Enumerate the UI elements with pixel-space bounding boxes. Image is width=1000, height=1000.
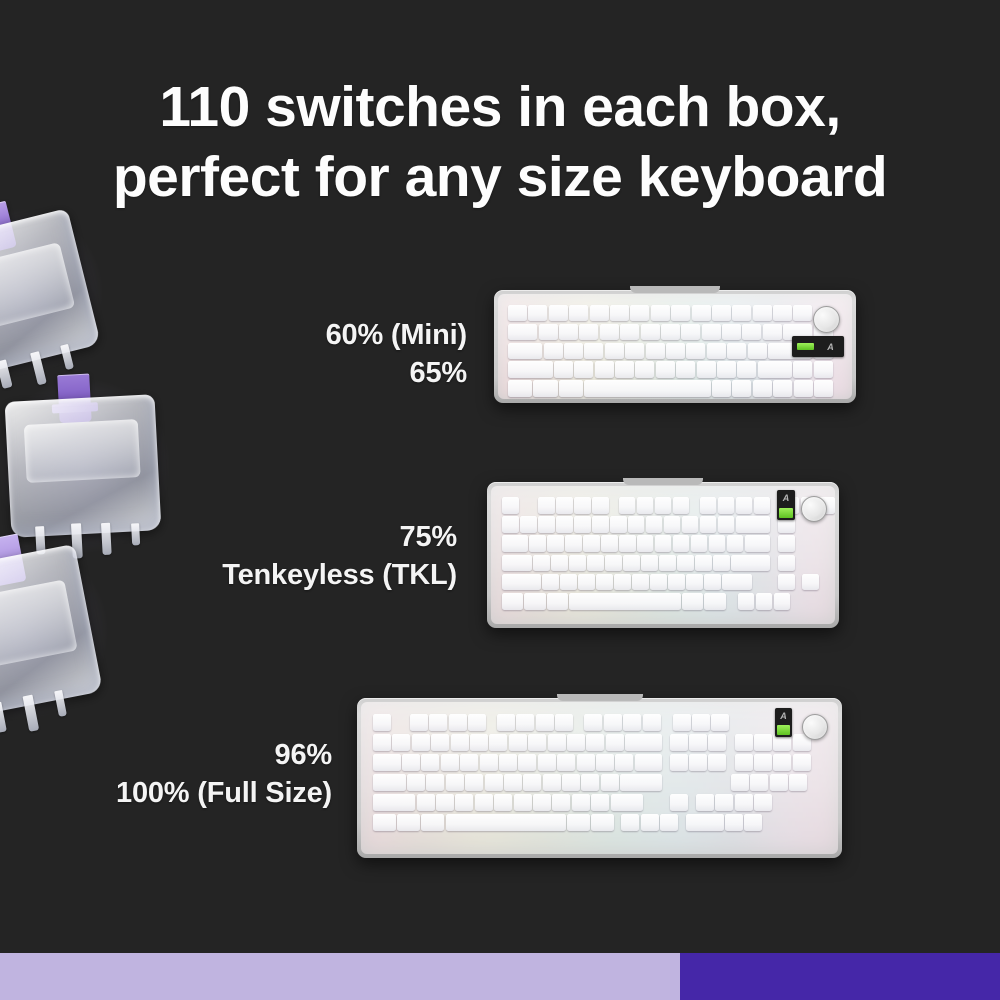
keycap-spacer	[796, 574, 801, 591]
switch-pin	[131, 523, 140, 545]
keycap[interactable]	[604, 714, 622, 731]
keycap-row	[508, 361, 834, 377]
keycap[interactable]	[504, 774, 522, 791]
keycap[interactable]	[584, 714, 602, 731]
keycap[interactable]	[773, 754, 791, 771]
keycap[interactable]	[421, 754, 439, 771]
keycap[interactable]	[475, 794, 493, 811]
label-fullsize-line2: 100% (Full Size)	[116, 774, 332, 812]
keycap[interactable]	[686, 814, 723, 831]
keycap[interactable]	[789, 774, 807, 791]
keycap[interactable]	[750, 774, 768, 791]
label-tkl-line1: 75%	[222, 518, 457, 556]
keycap-spacer	[670, 774, 730, 791]
keycap-spacer	[615, 814, 619, 831]
keycap-row	[373, 714, 731, 731]
keycap[interactable]	[586, 734, 604, 751]
keycap[interactable]	[429, 714, 447, 731]
switch-top	[0, 208, 101, 376]
keycap[interactable]	[742, 324, 761, 340]
keycap[interactable]	[632, 574, 649, 591]
keycap[interactable]	[753, 380, 772, 396]
keycap[interactable]	[579, 324, 598, 340]
keycap[interactable]	[712, 380, 731, 396]
keycap[interactable]	[677, 555, 694, 572]
keycap[interactable]	[707, 343, 726, 359]
keycap[interactable]	[628, 516, 645, 533]
switch-bottom	[0, 544, 103, 718]
keycap[interactable]	[502, 516, 519, 533]
keycap[interactable]	[539, 324, 558, 340]
keycap[interactable]	[446, 814, 566, 831]
keycap[interactable]	[727, 535, 744, 552]
keycap[interactable]	[756, 593, 773, 610]
keycap[interactable]	[373, 774, 406, 791]
keycap-row	[502, 555, 796, 572]
keycap[interactable]	[508, 361, 553, 377]
keycap[interactable]	[460, 754, 478, 771]
keycap[interactable]	[373, 754, 401, 771]
keycap[interactable]	[557, 754, 575, 771]
keycap[interactable]	[465, 774, 483, 791]
keycap[interactable]	[590, 305, 609, 321]
keycap-row	[508, 305, 814, 321]
keycap[interactable]	[508, 380, 532, 396]
keycap[interactable]	[641, 555, 658, 572]
keycap[interactable]	[727, 343, 746, 359]
keycap[interactable]	[778, 535, 795, 552]
keycap[interactable]	[547, 535, 564, 552]
keycap-spacer	[689, 794, 694, 811]
keycap[interactable]	[770, 774, 788, 791]
keycap[interactable]	[407, 774, 425, 791]
keycap[interactable]	[601, 774, 619, 791]
brand-logo-icon: A	[817, 336, 844, 357]
keycap[interactable]	[738, 593, 755, 610]
keycap[interactable]	[623, 714, 641, 731]
keycap[interactable]	[502, 535, 528, 552]
keycap[interactable]	[538, 754, 556, 771]
keycap-spacer	[664, 774, 668, 791]
keycap[interactable]	[686, 343, 705, 359]
keycap[interactable]	[606, 734, 624, 751]
keycap[interactable]	[446, 774, 464, 791]
keycap[interactable]	[518, 754, 536, 771]
keycap[interactable]	[708, 754, 726, 771]
keycap[interactable]	[543, 774, 561, 791]
keycap[interactable]	[731, 555, 770, 572]
keycap[interactable]	[655, 497, 672, 514]
keycap[interactable]	[744, 814, 762, 831]
keycap[interactable]	[696, 794, 714, 811]
keycap[interactable]	[497, 714, 515, 731]
battery-bar-icon	[777, 725, 790, 735]
keycap[interactable]	[591, 794, 609, 811]
keycap[interactable]	[686, 574, 703, 591]
keycap[interactable]	[514, 794, 532, 811]
rotary-knob-icon[interactable]	[801, 496, 827, 522]
keycap[interactable]	[533, 380, 557, 396]
keycap[interactable]	[502, 574, 541, 591]
keycap-row	[508, 380, 834, 396]
keycap[interactable]	[554, 361, 573, 377]
keycap[interactable]	[556, 516, 573, 533]
label-fullsize-line1: 96%	[116, 736, 332, 774]
keycap[interactable]	[650, 574, 667, 591]
keycap[interactable]	[692, 305, 711, 321]
keycap[interactable]	[373, 734, 391, 751]
keycap[interactable]	[748, 343, 767, 359]
keycap[interactable]	[711, 714, 729, 731]
keycap[interactable]	[569, 305, 588, 321]
keycap[interactable]	[528, 305, 547, 321]
bottom-bar-left-segment	[0, 953, 680, 1000]
keycap[interactable]	[745, 535, 771, 552]
keycap[interactable]	[635, 361, 654, 377]
keycap[interactable]	[499, 754, 517, 771]
keycap[interactable]	[431, 734, 449, 751]
keycap[interactable]	[718, 516, 735, 533]
keycap[interactable]	[671, 305, 690, 321]
keycap[interactable]	[524, 593, 545, 610]
keycap[interactable]	[529, 535, 546, 552]
keycap-row	[373, 754, 812, 771]
keycap[interactable]	[508, 343, 542, 359]
keycap[interactable]	[560, 574, 577, 591]
keycap[interactable]	[754, 794, 772, 811]
keycap[interactable]	[567, 814, 590, 831]
keycap[interactable]	[635, 754, 663, 771]
keycap[interactable]	[725, 814, 743, 831]
keycap[interactable]	[689, 734, 707, 751]
keycap[interactable]	[625, 734, 662, 751]
keycap[interactable]	[722, 574, 752, 591]
keycap[interactable]	[643, 714, 661, 731]
keycap[interactable]	[549, 305, 568, 321]
keycap[interactable]	[722, 324, 741, 340]
keycap[interactable]	[596, 754, 614, 771]
keycap[interactable]	[436, 794, 454, 811]
keycap[interactable]	[682, 516, 699, 533]
keycap[interactable]	[712, 305, 731, 321]
keycap[interactable]	[670, 754, 688, 771]
keycap[interactable]	[610, 305, 629, 321]
keycap[interactable]	[646, 343, 665, 359]
keycap[interactable]	[637, 535, 654, 552]
keycap[interactable]	[538, 497, 555, 514]
keycap[interactable]	[754, 754, 772, 771]
rotary-knob-icon[interactable]	[813, 306, 840, 333]
keycap[interactable]	[605, 343, 624, 359]
keycap[interactable]	[574, 361, 593, 377]
keycap[interactable]	[508, 305, 527, 321]
keycap[interactable]	[661, 324, 680, 340]
keycap[interactable]	[676, 361, 695, 377]
keycap[interactable]	[732, 305, 751, 321]
keycap[interactable]	[697, 361, 716, 377]
poster-canvas: 110 switches in each box, perfect for an…	[0, 0, 1000, 1000]
label-compact-line2: 65%	[326, 354, 467, 392]
keycap[interactable]	[814, 380, 833, 396]
keycap[interactable]	[592, 497, 609, 514]
keyboard-top-notch	[630, 286, 720, 293]
keycap[interactable]	[615, 361, 634, 377]
keycap[interactable]	[584, 343, 603, 359]
keycap[interactable]	[523, 774, 541, 791]
keycap[interactable]	[689, 754, 707, 771]
keycap[interactable]	[559, 380, 583, 396]
keycap[interactable]	[572, 794, 590, 811]
brand-logo-icon: A	[777, 490, 795, 507]
keyboard-tenkeyless: A	[487, 482, 839, 628]
keycap-spacer	[487, 714, 495, 731]
keycap[interactable]	[373, 714, 391, 731]
keycap[interactable]	[562, 774, 580, 791]
keycap[interactable]	[793, 361, 812, 377]
keycap-spacer	[728, 754, 733, 771]
keycap[interactable]	[494, 794, 512, 811]
keycap[interactable]	[569, 555, 586, 572]
keycap[interactable]	[793, 754, 811, 771]
keycap[interactable]	[673, 535, 690, 552]
keycap[interactable]	[625, 343, 644, 359]
keycap-matrix	[361, 702, 838, 854]
keycap[interactable]	[412, 734, 430, 751]
keycap[interactable]	[773, 380, 792, 396]
keyboard-fullsize: A	[357, 698, 842, 858]
keycap[interactable]	[641, 324, 660, 340]
keyboard-status-screen[interactable]: A	[777, 490, 795, 520]
keycap-row	[373, 794, 773, 811]
keycap[interactable]	[763, 324, 782, 340]
keycap[interactable]	[651, 305, 670, 321]
keycap[interactable]	[664, 516, 681, 533]
keycap[interactable]	[578, 574, 595, 591]
keycap[interactable]	[753, 305, 772, 321]
keycap[interactable]	[536, 714, 554, 731]
keycap[interactable]	[778, 555, 795, 572]
keycap[interactable]	[516, 714, 534, 731]
keycap[interactable]	[559, 324, 578, 340]
keycap[interactable]	[660, 814, 678, 831]
keycap[interactable]	[659, 555, 676, 572]
keycap[interactable]	[646, 516, 663, 533]
keycap[interactable]	[577, 754, 595, 771]
bottom-color-bar	[0, 953, 1000, 1000]
keycap[interactable]	[587, 555, 604, 572]
keycap[interactable]	[718, 497, 735, 514]
keycap-row	[373, 774, 808, 791]
keycap[interactable]	[600, 324, 619, 340]
keycap[interactable]	[615, 754, 633, 771]
keycap[interactable]	[480, 754, 498, 771]
keycap[interactable]	[717, 361, 736, 377]
keycap[interactable]	[754, 734, 772, 751]
keycap[interactable]	[574, 497, 591, 514]
keycap[interactable]	[637, 497, 654, 514]
keycap[interactable]	[673, 714, 691, 731]
keycap[interactable]	[455, 794, 473, 811]
keycap[interactable]	[485, 774, 503, 791]
keycap[interactable]	[605, 555, 622, 572]
keyboard-plate: A	[361, 702, 838, 854]
keycap[interactable]	[620, 324, 639, 340]
keycap[interactable]	[691, 535, 708, 552]
keycap[interactable]	[538, 516, 555, 533]
keycap[interactable]	[564, 343, 583, 359]
keycap[interactable]	[794, 380, 813, 396]
keycap[interactable]	[666, 343, 685, 359]
keycap[interactable]	[758, 361, 792, 377]
keycap[interactable]	[556, 497, 573, 514]
keycap[interactable]	[502, 555, 532, 572]
keycap[interactable]	[735, 734, 753, 751]
keycap[interactable]	[735, 754, 753, 771]
keycap[interactable]	[681, 324, 700, 340]
keycap[interactable]	[520, 516, 537, 533]
keycap[interactable]	[670, 794, 688, 811]
keycap[interactable]	[569, 593, 680, 610]
keycap[interactable]	[802, 574, 819, 591]
battery-bar-icon	[779, 508, 793, 518]
keyboard-status-screen[interactable]: A	[792, 336, 844, 357]
keycap[interactable]	[470, 734, 488, 751]
keycap[interactable]	[591, 814, 614, 831]
keycap[interactable]	[421, 814, 444, 831]
label-tenkeyless-keyboard: 75% Tenkeyless (TKL)	[222, 518, 457, 594]
keycap[interactable]	[441, 754, 459, 771]
keycap[interactable]	[695, 555, 712, 572]
keycap[interactable]	[528, 734, 546, 751]
keycap[interactable]	[542, 574, 559, 591]
keyboard-plate: A	[491, 486, 835, 624]
keycap[interactable]	[814, 361, 833, 377]
keycap[interactable]	[641, 814, 659, 831]
keycap[interactable]	[704, 574, 721, 591]
keycap[interactable]	[754, 497, 771, 514]
keyboard-plate: A	[498, 294, 852, 399]
keycap[interactable]	[773, 305, 792, 321]
keycap[interactable]	[778, 574, 795, 591]
keycap[interactable]	[417, 794, 435, 811]
keycap[interactable]	[567, 734, 585, 751]
page-title-line1: 110 switches in each box,	[159, 75, 840, 139]
keycap[interactable]	[592, 516, 609, 533]
keycap[interactable]	[508, 324, 537, 340]
brand-logo-icon: A	[775, 708, 792, 724]
keycap[interactable]	[704, 593, 725, 610]
keycap[interactable]	[673, 497, 690, 514]
keycap[interactable]	[709, 535, 726, 552]
keycap[interactable]	[619, 535, 636, 552]
keycap-spacer	[679, 814, 684, 831]
keycap-spacer	[520, 497, 537, 514]
keycap[interactable]	[655, 535, 672, 552]
keycap[interactable]	[547, 593, 568, 610]
keycap[interactable]	[601, 535, 618, 552]
keycap[interactable]	[736, 497, 753, 514]
keycap[interactable]	[584, 380, 710, 396]
keycap[interactable]	[595, 361, 614, 377]
keycap[interactable]	[596, 574, 613, 591]
keycap[interactable]	[502, 593, 523, 610]
keycap-row	[502, 516, 796, 533]
keycap[interactable]	[581, 774, 599, 791]
keycap[interactable]	[397, 814, 420, 831]
keycap[interactable]	[555, 714, 573, 731]
keycap[interactable]	[702, 324, 721, 340]
keycap[interactable]	[451, 734, 469, 751]
keycap[interactable]	[715, 794, 733, 811]
keycap[interactable]	[731, 774, 749, 791]
keycap[interactable]	[732, 380, 751, 396]
keycap[interactable]	[426, 774, 444, 791]
keycap[interactable]	[548, 734, 566, 751]
keycap[interactable]	[502, 497, 519, 514]
keycap[interactable]	[735, 794, 753, 811]
keycap[interactable]	[623, 555, 640, 572]
keycap[interactable]	[489, 734, 507, 751]
keycap[interactable]	[614, 574, 631, 591]
keycap[interactable]	[509, 734, 527, 751]
keycap-spacer	[754, 574, 777, 591]
keycap[interactable]	[668, 574, 685, 591]
page-title-line2: perfect for any size keyboard	[40, 142, 960, 212]
keycap[interactable]	[402, 754, 420, 771]
keycap[interactable]	[700, 516, 717, 533]
keycap-row	[508, 343, 834, 359]
keycap[interactable]	[736, 516, 771, 533]
keycap-spacer	[772, 516, 777, 533]
keycap[interactable]	[620, 774, 662, 791]
keycap[interactable]	[692, 714, 710, 731]
keycap[interactable]	[373, 814, 396, 831]
rotary-knob-icon[interactable]	[802, 714, 828, 740]
keycap[interactable]	[533, 555, 550, 572]
keycap[interactable]	[713, 555, 730, 572]
keycap[interactable]	[449, 714, 467, 731]
keycap[interactable]	[630, 305, 649, 321]
keycap[interactable]	[410, 714, 428, 731]
keycap-spacer	[664, 734, 668, 751]
keyboard-status-screen[interactable]: A	[775, 708, 792, 737]
keycap[interactable]	[656, 361, 675, 377]
keycap[interactable]	[708, 734, 726, 751]
keycap[interactable]	[533, 794, 551, 811]
label-fullsize-keyboard: 96% 100% (Full Size)	[116, 736, 332, 812]
keycap[interactable]	[793, 305, 812, 321]
keycap[interactable]	[611, 794, 644, 811]
keycap[interactable]	[700, 497, 717, 514]
keycap-row	[502, 535, 796, 552]
keycap[interactable]	[610, 516, 627, 533]
keycap[interactable]	[670, 734, 688, 751]
keycap[interactable]	[774, 593, 791, 610]
keycap[interactable]	[737, 361, 756, 377]
keycap[interactable]	[583, 535, 600, 552]
keycap[interactable]	[468, 714, 486, 731]
keycap[interactable]	[682, 593, 703, 610]
keycap[interactable]	[619, 497, 636, 514]
keycap[interactable]	[551, 555, 568, 572]
keycap[interactable]	[544, 343, 563, 359]
keycap[interactable]	[574, 516, 591, 533]
keycap[interactable]	[373, 794, 415, 811]
keycap[interactable]	[392, 734, 410, 751]
keycap[interactable]	[565, 535, 582, 552]
keycap[interactable]	[552, 794, 570, 811]
keycap[interactable]	[621, 814, 639, 831]
